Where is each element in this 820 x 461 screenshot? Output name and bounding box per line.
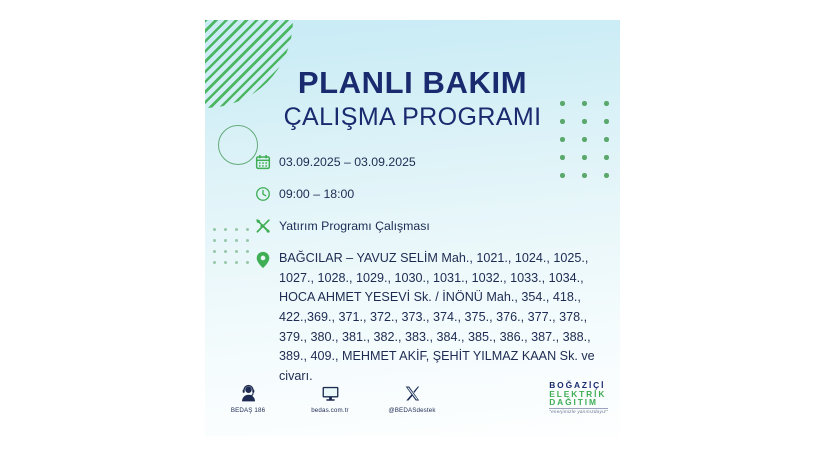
location-pin-icon <box>255 249 279 271</box>
call-center-agent-icon <box>219 381 277 405</box>
affected-area-value: BAĞCILAR – YAVUZ SELİM Mah., 1021., 1024… <box>279 249 605 386</box>
detail-row-work-type: Yatırım Programı Çalışması <box>255 217 605 238</box>
planned-maintenance-poster: PLANLI BAKIM ÇALIŞMA PROGRAMI <box>205 20 620 436</box>
poster-heading-block: PLANLI BAKIM ÇALIŞMA PROGRAMI <box>205 67 620 131</box>
poster-footer: BEDAŞ 186 bedas.com.tr <box>205 375 620 436</box>
contact-phone[interactable]: BEDAŞ 186 <box>219 381 277 414</box>
page-subtitle: ÇALIŞMA PROGRAMI <box>205 103 620 132</box>
brand-line-3: DAĞITIM <box>549 398 608 407</box>
bedas-logo: BOĞAZİÇİ ELEKTRİK DAĞITIM "enerjimizle y… <box>549 381 608 415</box>
date-range-value: 03.09.2025 – 03.09.2025 <box>279 153 416 172</box>
x-twitter-icon <box>383 381 441 405</box>
work-type-value: Yatırım Programı Çalışması <box>279 217 430 236</box>
contact-phone-label: BEDAŞ 186 <box>219 407 277 414</box>
brand-tagline: "enerjimizle yanınızdayız" <box>549 408 608 415</box>
calendar-icon <box>255 153 279 174</box>
detail-row-time: 09:00 – 18:00 <box>255 185 605 206</box>
contact-website[interactable]: bedas.com.tr <box>301 381 359 414</box>
detail-row-date: 03.09.2025 – 03.09.2025 <box>255 153 605 174</box>
contact-channels: BEDAŞ 186 bedas.com.tr <box>219 381 441 414</box>
contact-website-label: bedas.com.tr <box>301 407 359 414</box>
dot-grid-left-decoration <box>213 228 257 272</box>
maintenance-details: 03.09.2025 – 03.09.2025 09:00 – 18:00 <box>255 153 605 386</box>
screenshot-canvas: PLANLI BAKIM ÇALIŞMA PROGRAMI <box>0 0 820 461</box>
page-title: PLANLI BAKIM <box>205 67 620 100</box>
detail-row-address: BAĞCILAR – YAVUZ SELİM Mah., 1021., 1024… <box>255 249 605 386</box>
contact-social[interactable]: @BEDASdestek <box>383 381 441 414</box>
contact-social-label: @BEDASdestek <box>383 407 441 414</box>
clock-icon <box>255 185 279 206</box>
tools-icon <box>255 217 279 238</box>
time-range-value: 09:00 – 18:00 <box>279 185 354 204</box>
monitor-icon <box>301 381 359 405</box>
